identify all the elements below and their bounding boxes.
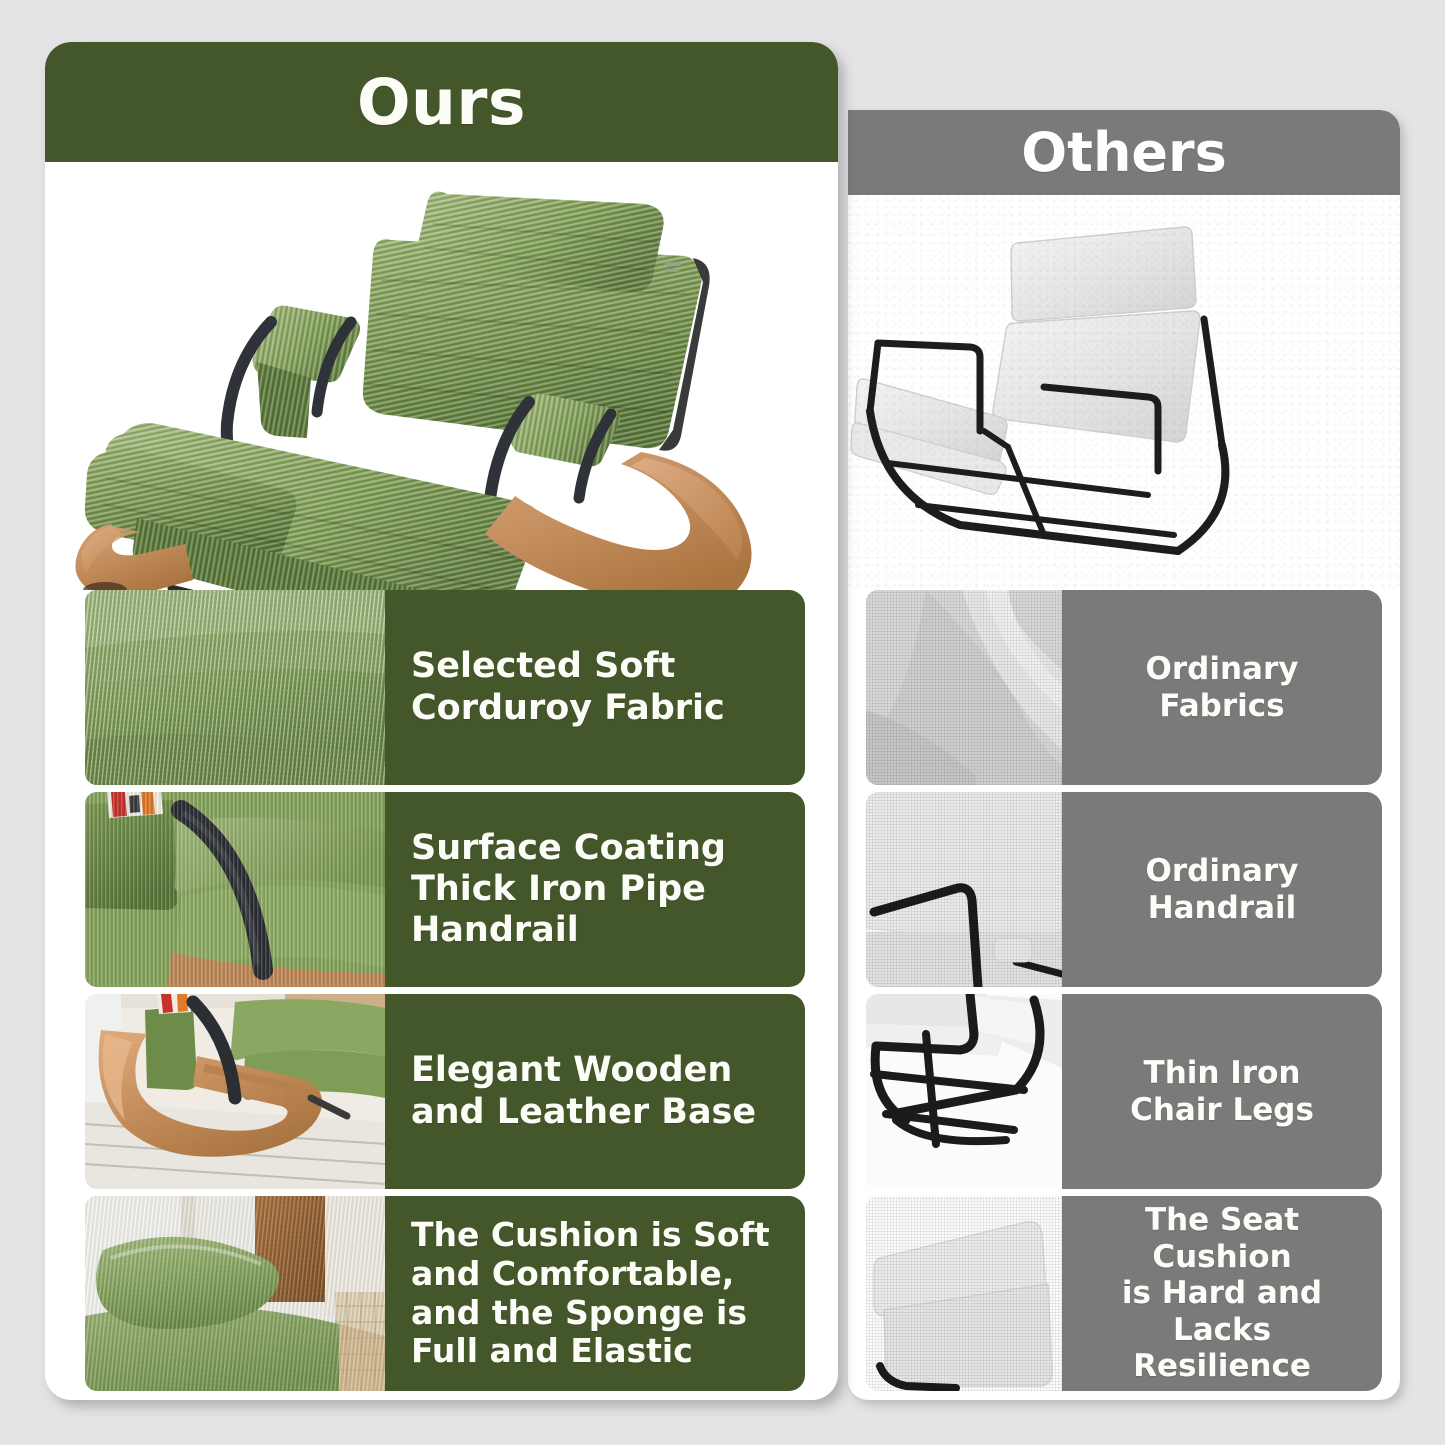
ours-thumb-cushion <box>85 1196 385 1391</box>
ours-thumb-wooden-base <box>85 994 385 1189</box>
others-feature-label-text: The Seat Cushion is Hard and Lacks Resil… <box>1076 1202 1368 1385</box>
ours-chair-illustration <box>45 162 838 590</box>
others-feature-label-text: Thin Iron Chair Legs <box>1130 1055 1314 1128</box>
ours-feature-label: Selected Soft Corduroy Fabric <box>385 590 805 785</box>
ours-feature-label: The Cushion is Soft and Comfortable, and… <box>385 1196 805 1391</box>
others-feature-label: The Seat Cushion is Hard and Lacks Resil… <box>1062 1196 1382 1391</box>
ours-thumb-handrail <box>85 792 385 987</box>
ours-header-title: Ours <box>357 71 526 134</box>
ours-header: Ours <box>45 42 838 162</box>
ours-panel: Ours <box>45 42 838 1400</box>
ours-feature-list: Selected Soft Corduroy Fabric <box>85 590 805 1398</box>
ours-hero-image <box>45 162 838 590</box>
others-feature-list: Ordinary Fabrics <box>866 590 1382 1398</box>
others-hero-image <box>848 195 1400 590</box>
corduroy-rib-texture <box>85 590 385 785</box>
thin-iron-legs-illustration <box>866 994 1062 1189</box>
ours-feature-label-text: Elegant Wooden and Leather Base <box>411 1050 756 1133</box>
others-feature-label-text: Ordinary Handrail <box>1146 853 1299 926</box>
others-feature-row: The Seat Cushion is Hard and Lacks Resil… <box>866 1196 1382 1391</box>
others-feature-label: Ordinary Fabrics <box>1062 590 1382 785</box>
corduroy-rib-texture <box>85 792 385 987</box>
fabric-weave-texture <box>866 590 1062 785</box>
others-header-title: Others <box>1021 126 1227 180</box>
ours-feature-row: The Cushion is Soft and Comfortable, and… <box>85 1196 805 1391</box>
others-feature-row: Ordinary Fabrics <box>866 590 1382 785</box>
others-thumb-fabrics <box>866 590 1062 785</box>
ours-feature-row: Elegant Wooden and Leather Base <box>85 994 805 1189</box>
fabric-weave-texture <box>866 792 1062 987</box>
others-thumb-chair-legs <box>866 994 1062 1189</box>
others-feature-row: Ordinary Handrail <box>866 792 1382 987</box>
others-feature-label: Thin Iron Chair Legs <box>1062 994 1382 1189</box>
ours-feature-label: Elegant Wooden and Leather Base <box>385 994 805 1189</box>
ours-feature-label-text: Selected Soft Corduroy Fabric <box>411 646 725 729</box>
others-thumb-handrail <box>866 792 1062 987</box>
corduroy-rib-texture <box>85 1196 385 1391</box>
others-feature-row: Thin Iron Chair Legs <box>866 994 1382 1189</box>
ours-feature-label: Surface Coating Thick Iron Pipe Handrail <box>385 792 805 987</box>
fabric-weave-texture <box>866 1196 1062 1391</box>
others-feature-label-text: Ordinary Fabrics <box>1146 651 1299 724</box>
ours-feature-row: Surface Coating Thick Iron Pipe Handrail <box>85 792 805 987</box>
others-header: Others <box>848 110 1400 195</box>
ours-thumb-corduroy <box>85 590 385 785</box>
others-feature-label: Ordinary Handrail <box>1062 792 1382 987</box>
wooden-leather-base-illustration <box>85 994 385 1189</box>
others-thumb-seat-cushion <box>866 1196 1062 1391</box>
ours-feature-label-text: Surface Coating Thick Iron Pipe Handrail <box>411 828 726 952</box>
others-fabric-texture <box>848 195 1400 590</box>
ours-feature-row: Selected Soft Corduroy Fabric <box>85 590 805 785</box>
ours-feature-label-text: The Cushion is Soft and Comfortable, and… <box>411 1216 770 1372</box>
others-panel: Others <box>848 110 1400 1400</box>
comparison-infographic: Others <box>0 0 1445 1445</box>
